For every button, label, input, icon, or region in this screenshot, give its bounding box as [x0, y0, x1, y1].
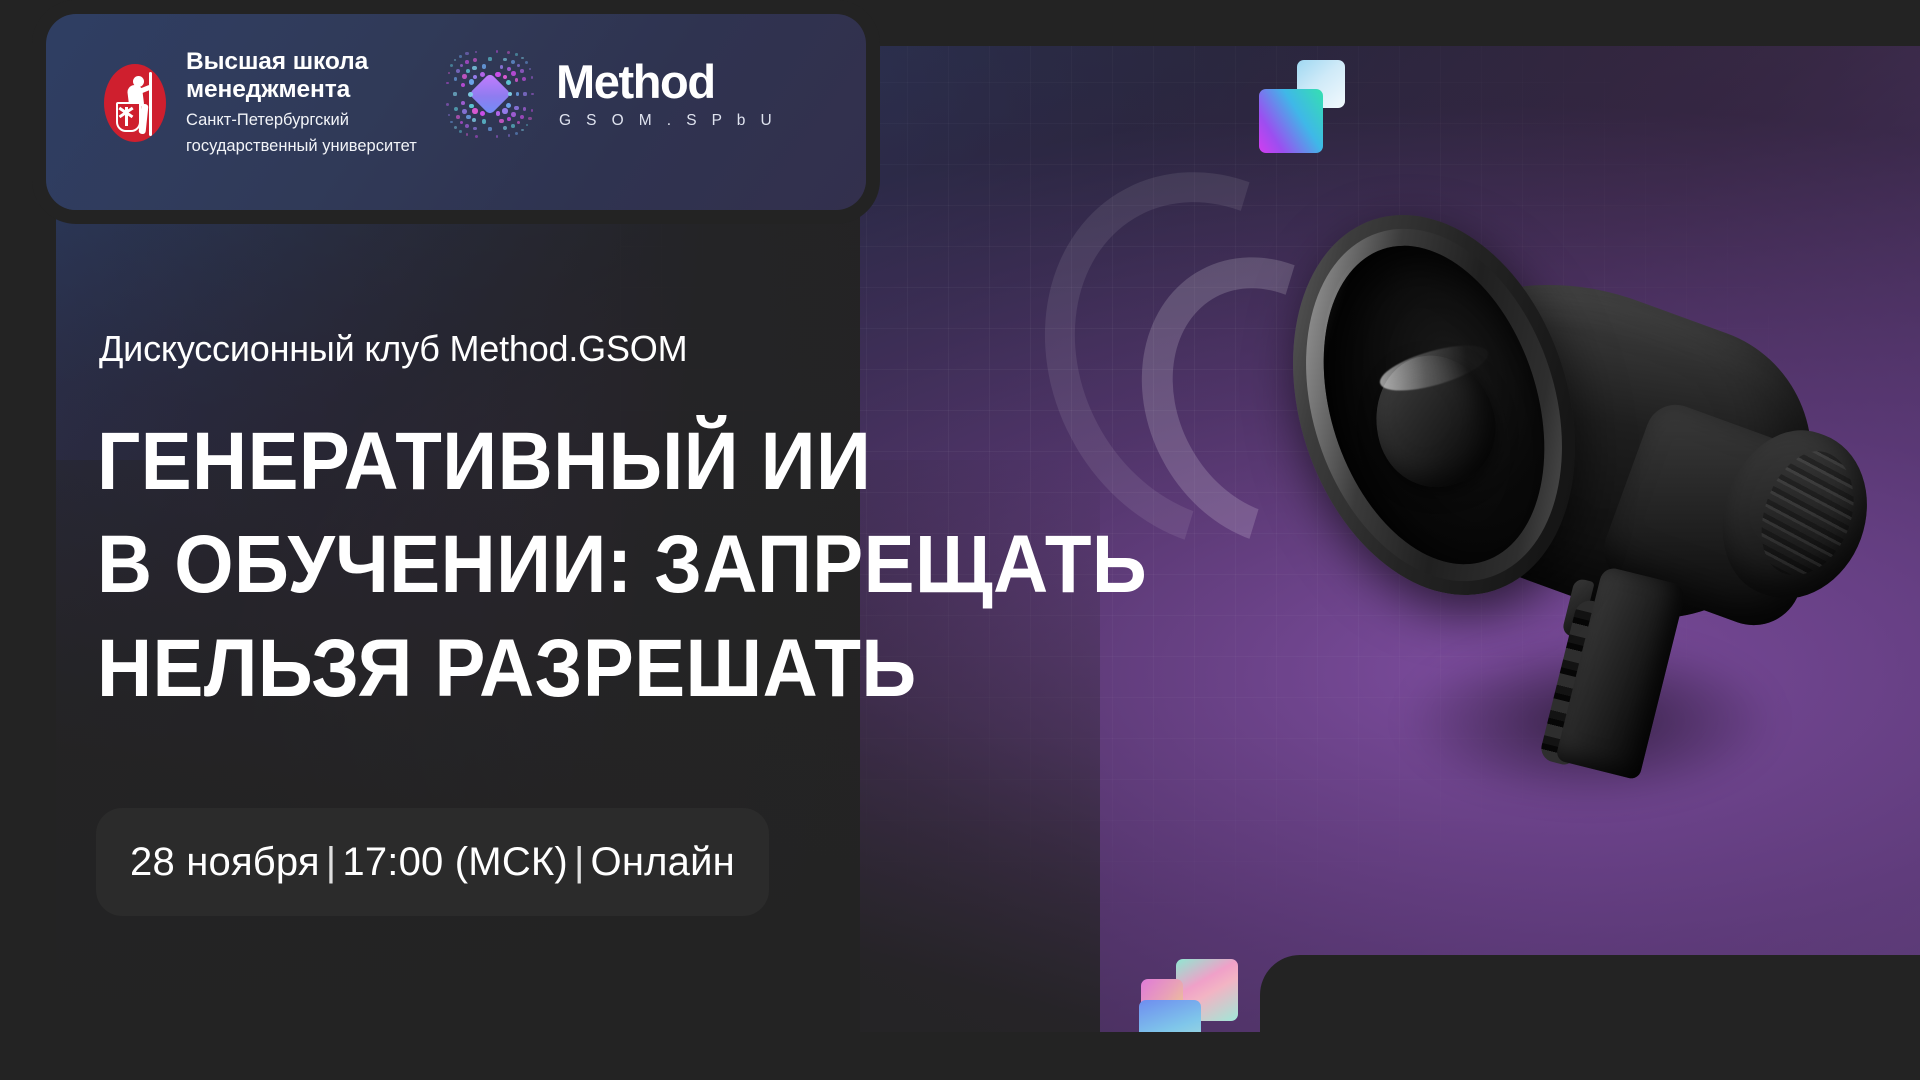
event-time: 17:00 (МСК): [342, 840, 568, 885]
spbu-wordmark: Высшая школа менеджмента Санкт-Петербург…: [186, 48, 417, 156]
headline-line-2: В ОБУЧЕНИИ: ЗАПРЕЩАТЬ: [97, 513, 1147, 616]
frame-top-right-cut: [820, 0, 1920, 46]
page-title: ГЕНЕРАТИВНЫЙ ИИ В ОБУЧЕНИИ: ЗАПРЕЩАТЬ НЕ…: [97, 410, 1226, 720]
spbu-crest-icon: [104, 60, 166, 144]
event-date: 28 ноября: [130, 840, 320, 885]
spbu-line-1: Высшая школа: [186, 48, 417, 76]
separator-1: |: [320, 840, 343, 885]
method-logo: Method G S O M . S P b U: [438, 42, 777, 146]
spbu-line-2: менеджмента: [186, 76, 417, 104]
headline-line-3: НЕЛЬЗЯ РАЗРЕШАТЬ: [97, 617, 1147, 720]
spbu-line-3: Санкт-Петербургский: [186, 110, 417, 131]
logo-panel: Высшая школа менеджмента Санкт-Петербург…: [46, 14, 866, 210]
method-wordmark: Method: [556, 58, 777, 105]
headline-line-1: ГЕНЕРАТИВНЫЙ ИИ: [97, 410, 1147, 513]
frame-bottom-bar: [0, 1032, 1920, 1080]
event-kicker: Дискуссионный клуб Method.GSOM: [99, 328, 687, 370]
megaphone-icon: [1180, 175, 1920, 905]
method-diamond-icon: [438, 42, 542, 146]
event-format: Онлайн: [591, 840, 735, 885]
method-wordmark-group: Method G S O M . S P b U: [556, 58, 777, 130]
separator-2: |: [568, 840, 591, 885]
gradient-square-magenta-teal: [1259, 89, 1323, 153]
promo-banner: Высшая школа менеджмента Санкт-Петербург…: [0, 0, 1920, 1080]
spbu-line-4: государственный университет: [186, 136, 417, 157]
event-details-panel: 28 ноября | 17:00 (МСК) | Онлайн: [96, 808, 769, 916]
method-subtitle: G S O M . S P b U: [559, 112, 777, 130]
spbu-logo: Высшая школа менеджмента Санкт-Петербург…: [104, 48, 417, 156]
